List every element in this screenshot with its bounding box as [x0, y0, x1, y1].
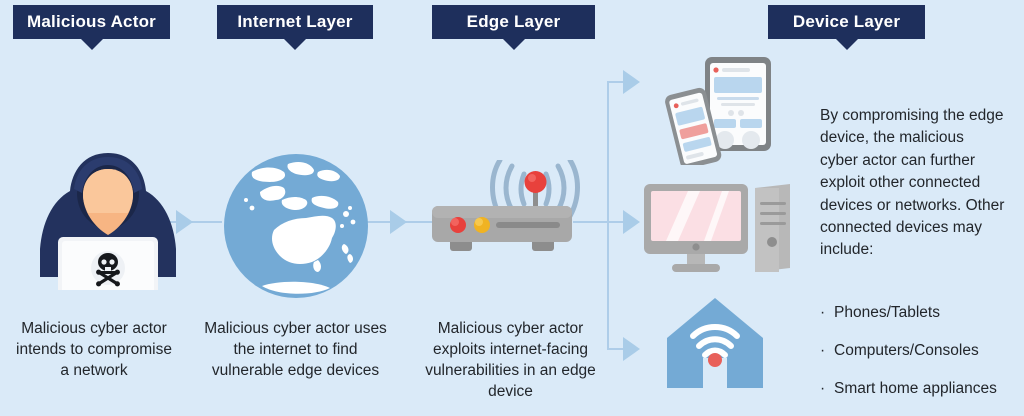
device-layer-bullet-list: ·Phones/Tablets ·Computers/Consoles ·Sma…	[820, 302, 997, 416]
banner-tail	[503, 39, 525, 50]
device-layer-description: By compromising the edge device, the mal…	[820, 105, 1005, 262]
banner-label: Device Layer	[793, 12, 900, 31]
list-item: ·Smart home appliances	[820, 378, 997, 400]
list-item: ·Phones/Tablets	[820, 302, 997, 324]
arrow-head-icon	[623, 70, 640, 94]
banner-edge-layer: Edge Layer	[432, 5, 595, 39]
list-item: ·Computers/Consoles	[820, 340, 997, 362]
globe-icon	[222, 152, 370, 300]
hooded-hacker-illustration	[28, 145, 188, 290]
banner-label: Malicious Actor	[27, 12, 156, 31]
list-item-label: Smart home appliances	[834, 380, 997, 397]
arrow-head-icon	[623, 210, 640, 234]
arrow-branch-trunk	[607, 82, 609, 349]
infographic-canvas: Malicious Actor Internet Layer Edge Laye…	[0, 0, 1024, 416]
bullet-marker: ·	[820, 302, 834, 324]
desktop-computer-icon	[642, 182, 797, 278]
bullet-marker: ·	[820, 340, 834, 362]
banner-tail	[81, 39, 103, 50]
banner-device-layer: Device Layer	[768, 5, 925, 39]
list-item-label: Computers/Consoles	[834, 342, 979, 359]
caption-edge-layer: Malicious cyber actor exploits internet-…	[418, 318, 603, 402]
router-icon	[428, 160, 594, 270]
banner-label: Edge Layer	[467, 12, 561, 31]
caption-malicious-actor: Malicious cyber actor intends to comprom…	[14, 318, 174, 381]
arrow-head-icon	[390, 210, 407, 234]
banner-tail	[836, 39, 858, 50]
banner-malicious-actor: Malicious Actor	[13, 5, 170, 39]
banner-label: Internet Layer	[237, 12, 352, 31]
smart-home-wifi-icon	[665, 296, 765, 392]
arrow-head-icon	[623, 337, 640, 361]
tablet-and-phone-icon	[665, 55, 780, 165]
list-item-label: Phones/Tablets	[834, 304, 940, 321]
banner-tail	[284, 39, 306, 50]
bullet-marker: ·	[820, 378, 834, 400]
caption-internet-layer: Malicious cyber actor uses the internet …	[203, 318, 388, 381]
banner-internet-layer: Internet Layer	[217, 5, 373, 39]
